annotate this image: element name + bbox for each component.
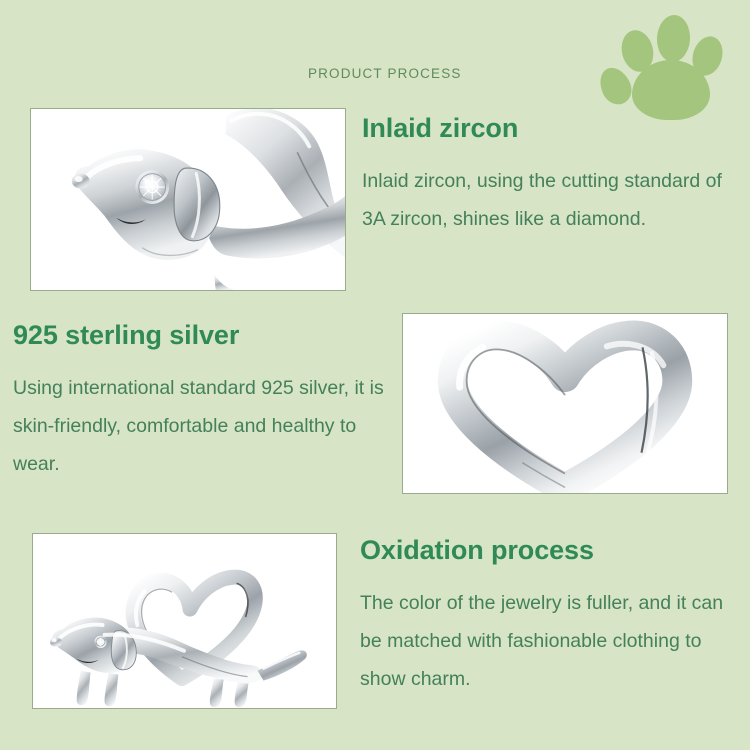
product-photo-sterling-silver — [402, 313, 728, 494]
paw-toe-pad — [656, 14, 691, 63]
dachshund-head-illustration — [31, 109, 345, 290]
section-eyebrow-label: PRODUCT PROCESS — [308, 66, 462, 81]
paw-toe-pad — [594, 63, 637, 110]
paw-print-icon — [598, 12, 738, 117]
section-title-inlaid-zircon: Inlaid zircon — [362, 113, 518, 144]
section-title-oxidation-process: Oxidation process — [360, 535, 594, 566]
paw-main-pad — [632, 60, 710, 120]
product-photo-inlaid-zircon — [30, 108, 346, 291]
section-body-oxidation-process: The color of the jewelry is fuller, and … — [360, 584, 742, 698]
product-photo-oxidation-process — [32, 533, 337, 709]
product-process-infographic: PRODUCT PROCESS — [0, 0, 750, 750]
dachshund-heart-pendant-illustration — [33, 534, 336, 708]
section-body-sterling-silver: Using international standard 925 silver,… — [13, 369, 403, 483]
section-body-inlaid-zircon: Inlaid zircon, using the cutting standar… — [362, 162, 734, 238]
section-title-sterling-silver: 925 sterling silver — [13, 320, 239, 351]
silver-heart-illustration — [403, 314, 727, 493]
